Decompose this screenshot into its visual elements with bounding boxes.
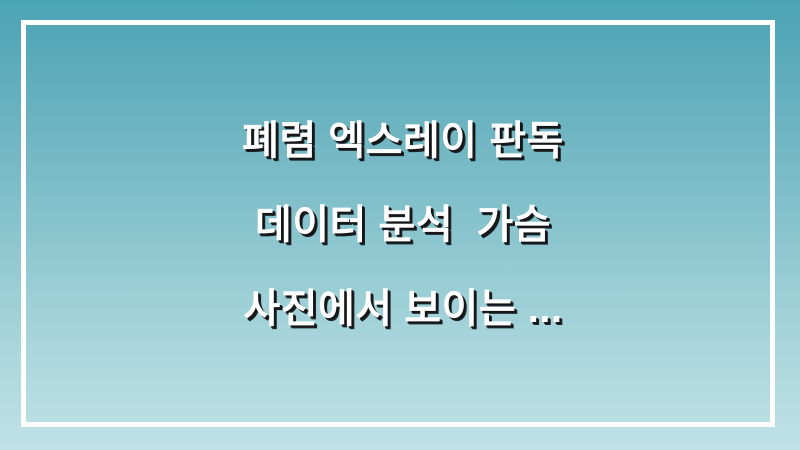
headline-block: 폐렴 엑스레이 판독 데이터 분석 가슴 사진에서 보이는 ... — [0, 0, 800, 450]
title-card: 폐렴 엑스레이 판독 데이터 분석 가슴 사진에서 보이는 ... — [0, 0, 800, 450]
headline-line-2: 데이터 분석 가슴 — [255, 183, 551, 267]
headline-line-3: 사진에서 보이는 ... — [243, 267, 562, 351]
headline-line-1: 폐렴 엑스레이 판독 — [242, 99, 564, 183]
